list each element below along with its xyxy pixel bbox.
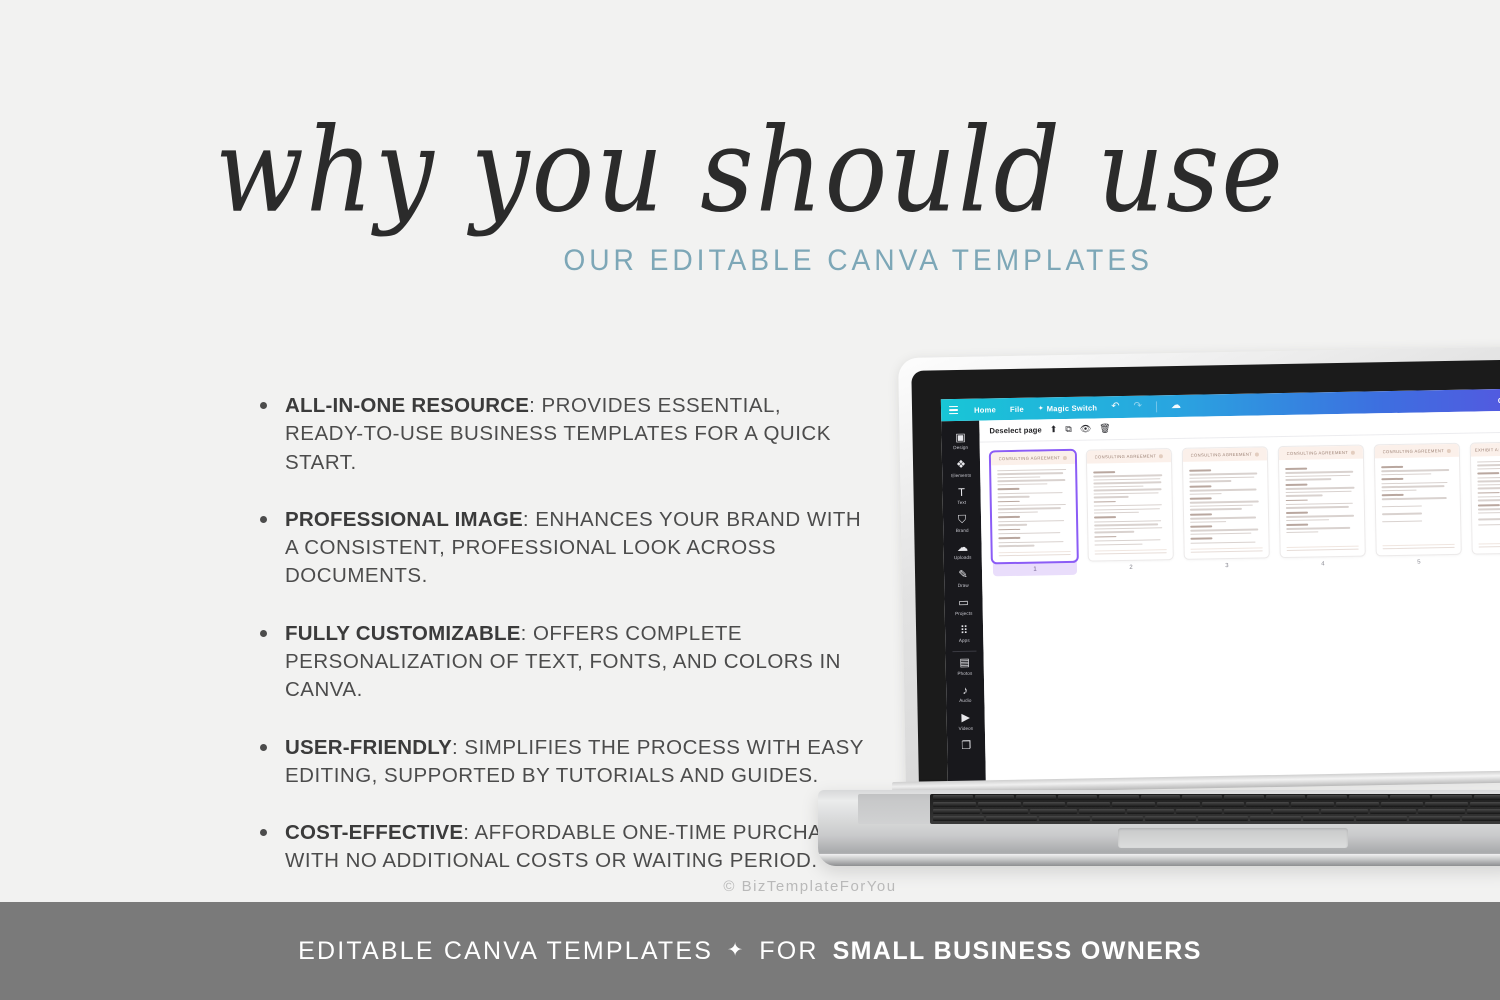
audio-note-icon: ♪ xyxy=(962,685,968,697)
page-number: 4 xyxy=(1281,557,1365,572)
laptop-screen: Home File ✦ Magic Switch ↶ ↷ ☁ Consultin… xyxy=(941,388,1500,790)
laptop-mockup: Home File ✦ Magic Switch ↶ ↷ ☁ Consultin… xyxy=(818,358,1500,878)
sidebar-item-label: Elements xyxy=(951,473,971,478)
list-item: ALL-IN-ONE RESOURCE: PROVIDES ESSENTIAL,… xyxy=(255,392,865,477)
list-item-title: PROFESSIONAL IMAGE xyxy=(285,508,523,531)
page-number: 1 xyxy=(993,562,1077,577)
laptop-lid: Home File ✦ Magic Switch ↶ ↷ ☁ Consultin… xyxy=(898,346,1500,790)
list-item: PROFESSIONAL IMAGE: ENHANCES YOUR BRAND … xyxy=(255,506,865,591)
export-upload-icon[interactable]: ⬆ xyxy=(1050,425,1058,434)
sidebar-item-audio[interactable]: ♪ Audio xyxy=(946,680,984,708)
sidebar-item-label: Text xyxy=(957,501,966,506)
thumbnail-logo-icon xyxy=(1351,450,1355,454)
elements-shapes-icon: ❖ xyxy=(956,459,966,471)
thumbnail-title: CONSULTING AGREEMENT xyxy=(1287,450,1349,456)
laptop-bezel: Home File ✦ Magic Switch ↶ ↷ ☁ Consultin… xyxy=(911,359,1500,790)
trash-delete-icon[interactable]: 🗑 xyxy=(1099,424,1111,433)
page-thumbnail[interactable]: CONSULTING AGREEMENT xyxy=(1087,449,1173,561)
watermark: © BizTemplateForYou xyxy=(0,878,1500,895)
sidebar-item-videos[interactable]: ▶ Videos xyxy=(947,707,985,735)
benefits-list: ALL-IN-ONE RESOURCE: PROVIDES ESSENTIAL,… xyxy=(255,392,865,876)
sidebar-item-elements[interactable]: ❖ Elements xyxy=(942,454,980,482)
thumbnail-body xyxy=(991,464,1077,554)
thumbnail-body xyxy=(1375,457,1460,530)
footer-bar: EDITABLE CANVA TEMPLATES ✦ FOR SMALL BUS… xyxy=(0,902,1500,1000)
magic-switch-label: Magic Switch xyxy=(1047,403,1098,413)
draw-pen-icon: ✎ xyxy=(958,570,967,582)
page-thumbnail[interactable]: CONSULTING AGREEMENT xyxy=(1375,444,1461,556)
brand-bag-icon: ⛉ xyxy=(958,515,966,527)
apps-grid-icon: ⠿ xyxy=(960,625,968,637)
sidebar-item-design[interactable]: ▣ Design xyxy=(941,427,979,455)
uploads-cloud-icon: ☁ xyxy=(957,542,968,554)
design-panel-icon: ▣ xyxy=(955,432,966,444)
hamburger-menu-icon[interactable] xyxy=(949,406,960,415)
page-thumbnail[interactable]: CONSULTING AGREEMENT xyxy=(1183,447,1269,559)
footer-text: EDITABLE CANVA TEMPLATES ✦ FOR SMALL BUS… xyxy=(298,937,1202,966)
sidebar-item-apps[interactable]: ⠿ Apps xyxy=(945,620,983,648)
list-item: USER-FRIENDLY: SIMPLIFIES THE PROCESS WI… xyxy=(255,734,865,791)
sidebar-item-label: Draw xyxy=(958,584,969,589)
list-item-title: COST-EFFECTIVE xyxy=(285,821,463,844)
sidebar-item-label: Design xyxy=(953,446,968,451)
page-thumbnail-item[interactable]: EXHIBIT A: SCOPE OF SERVICES xyxy=(1471,442,1500,568)
photos-image-icon: ▤ xyxy=(959,658,970,670)
list-item-title: USER-FRIENDLY xyxy=(285,736,452,759)
sidebar-item-brand[interactable]: ⛉ Brand xyxy=(943,509,981,537)
page-thumbnail-item[interactable]: CONSULTING AGREEMENT xyxy=(1375,444,1461,570)
cloud-save-icon[interactable]: ☁ xyxy=(1171,401,1181,411)
thumbnail-footer xyxy=(1287,545,1359,553)
page-thumbnails-strip[interactable]: CONSULTING AGREEMENT xyxy=(980,432,1500,576)
deselect-page-button[interactable]: Deselect page xyxy=(989,425,1042,435)
laptop-base-panel xyxy=(858,794,932,824)
thumbnail-title: CONSULTING AGREEMENT xyxy=(1095,453,1157,459)
thumbnail-footer xyxy=(1191,547,1263,555)
page-title-script: why you should use xyxy=(215,112,1285,228)
videos-play-icon: ▶ xyxy=(961,713,970,725)
page-subtitle: OUR EDITABLE CANVA TEMPLATES xyxy=(45,244,1455,278)
page-thumbnail[interactable]: CONSULTING AGREEMENT xyxy=(991,451,1077,563)
sidebar-item-label: Brand xyxy=(956,529,969,534)
magic-switch-button[interactable]: ✦ Magic Switch xyxy=(1038,403,1098,413)
page-thumbnail-item[interactable]: CONSULTING AGREEMENT xyxy=(1183,447,1269,573)
page-thumbnail[interactable]: EXHIBIT A: SCOPE OF SERVICES xyxy=(1471,442,1500,554)
thumbnail-title: CONSULTING AGREEMENT xyxy=(1191,452,1253,458)
headline-block: why you should use OUR EDITABLE CANVA TE… xyxy=(0,118,1500,278)
thumbnail-body xyxy=(1279,459,1364,541)
thumbnail-header: EXHIBIT A: SCOPE OF SERVICES xyxy=(1471,442,1500,457)
thumbnail-logo-icon xyxy=(1063,455,1067,459)
sidebar-item-label: Audio xyxy=(959,699,971,704)
sidebar-item-label: Apps xyxy=(959,639,970,644)
thumbnail-logo-icon xyxy=(1159,454,1163,458)
page-thumbnail-item[interactable]: CONSULTING AGREEMENT xyxy=(1087,449,1173,575)
footer-lead-text: EDITABLE CANVA TEMPLATES xyxy=(298,937,713,966)
page-number: 3 xyxy=(1185,558,1269,573)
sidebar-item-label: Videos xyxy=(959,727,974,732)
projects-folder-icon: ▭ xyxy=(958,597,969,609)
list-item-title: FULLY CUSTOMIZABLE xyxy=(285,622,521,645)
redo-arrow-icon[interactable]: ↷ xyxy=(1134,402,1143,412)
thumbnail-footer xyxy=(999,551,1071,559)
thumbnail-title: EXHIBIT A: SCOPE OF SERVICES xyxy=(1475,446,1500,452)
page-thumbnail[interactable]: CONSULTING AGREEMENT xyxy=(1279,446,1365,558)
text-letter-icon: T xyxy=(958,487,965,499)
canva-editor-area: Deselect page ⬆ ⧉ 👁 🗑 C xyxy=(979,410,1500,790)
sidebar-item-more[interactable]: ❐ xyxy=(947,735,985,757)
thumbnail-body xyxy=(1087,462,1173,553)
thumbnail-logo-icon xyxy=(1255,452,1259,456)
laptop-keyboard xyxy=(930,794,1500,824)
page-thumbnail-item[interactable]: CONSULTING AGREEMENT xyxy=(991,451,1077,577)
undo-arrow-icon[interactable]: ↶ xyxy=(1111,402,1120,412)
sidebar-item-projects[interactable]: ▭ Projects xyxy=(944,592,982,620)
page-number: 6 xyxy=(1473,553,1500,568)
page-number: 2 xyxy=(1089,560,1173,575)
thumbnail-logo-icon xyxy=(1447,448,1451,452)
sparkle-icon: ✦ xyxy=(1038,405,1044,412)
sidebar-item-label: Photos xyxy=(957,672,972,677)
laptop-trackpad xyxy=(1118,828,1348,848)
thumbnail-body xyxy=(1183,460,1269,551)
list-item: COST-EFFECTIVE: AFFORDABLE ONE-TIME PURC… xyxy=(255,819,865,876)
sidebar-item-uploads[interactable]: ☁ Uploads xyxy=(943,537,981,565)
sidebar-item-label: Uploads xyxy=(954,556,972,561)
eye-slash-hide-icon[interactable]: 👁 xyxy=(1080,425,1092,434)
thumbnail-footer xyxy=(1479,542,1500,550)
sidebar-item-label: Projects xyxy=(955,611,972,616)
thumbnail-title: CONSULTING AGREEMENT xyxy=(1383,448,1445,454)
toolbar-divider xyxy=(1156,401,1157,412)
thumbnail-footer xyxy=(1095,549,1167,557)
list-item: FULLY CUSTOMIZABLE: OFFERS COMPLETE PERS… xyxy=(255,620,865,705)
menu-item-file[interactable]: File xyxy=(1010,404,1024,413)
canva-body: ▣ Design ❖ Elements T Text xyxy=(941,410,1500,790)
list-item-title: ALL-IN-ONE RESOURCE xyxy=(285,394,529,417)
footer-strong-text: SMALL BUSINESS OWNERS xyxy=(833,937,1202,966)
sidebar-item-draw[interactable]: ✎ Draw xyxy=(944,565,982,593)
menu-item-home[interactable]: Home xyxy=(974,405,996,414)
laptop-base-lip xyxy=(818,854,1500,866)
footer-mid-text: FOR xyxy=(759,937,818,966)
thumbnail-body xyxy=(1471,455,1500,533)
sidebar-item-photos[interactable]: ▤ Photos xyxy=(945,652,983,680)
more-pages-icon: ❐ xyxy=(961,740,971,752)
laptop-base xyxy=(818,790,1500,866)
page-number: 5 xyxy=(1377,555,1461,570)
promo-graphic-page: why you should use OUR EDITABLE CANVA TE… xyxy=(0,0,1500,1000)
sidebar-item-text[interactable]: T Text xyxy=(942,482,980,510)
diamond-star-icon: ✦ xyxy=(727,941,745,960)
thumbnail-footer xyxy=(1383,544,1455,552)
duplicate-copy-icon[interactable]: ⧉ xyxy=(1065,425,1072,434)
thumbnail-title: CONSULTING AGREEMENT xyxy=(999,455,1061,461)
page-thumbnail-item[interactable]: CONSULTING AGREEMENT xyxy=(1279,446,1365,572)
